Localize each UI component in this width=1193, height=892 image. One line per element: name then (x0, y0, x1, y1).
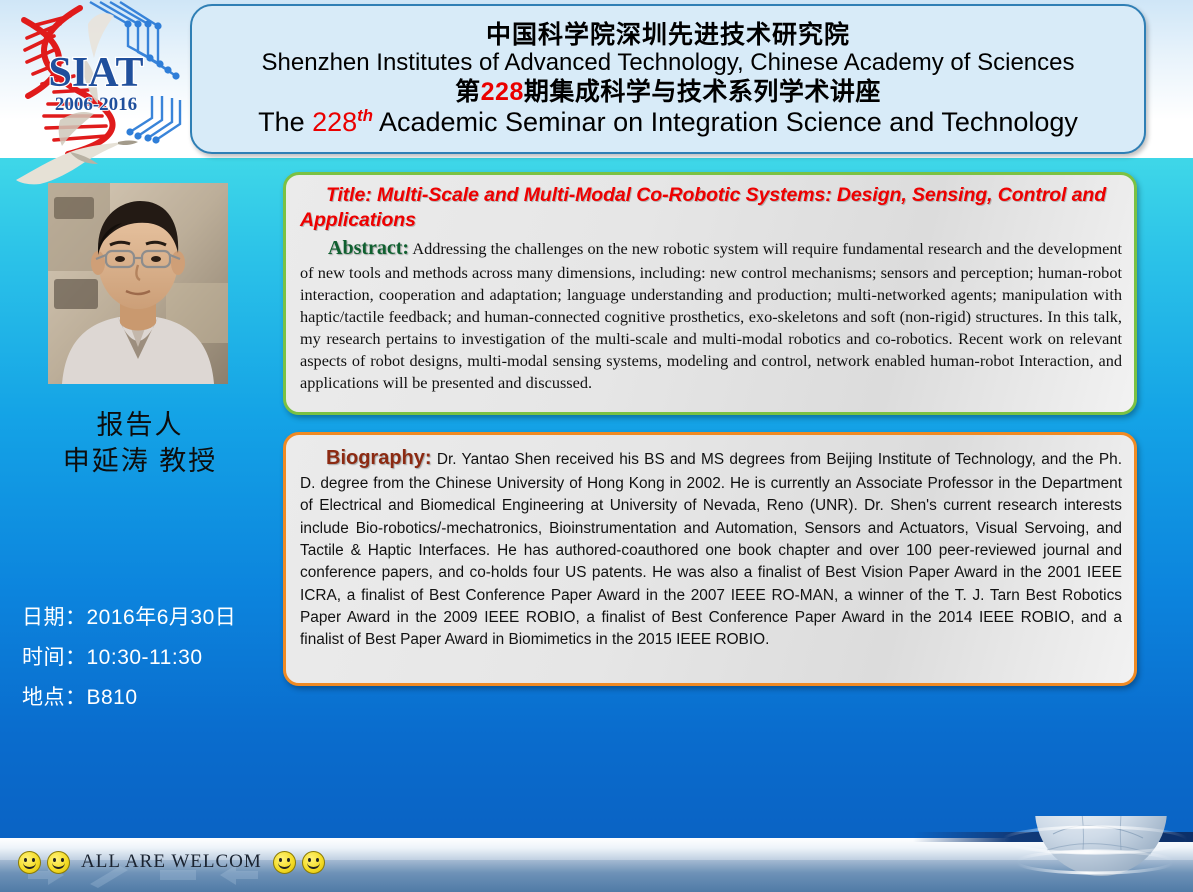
biography-body: Dr. Yantao Shen received his BS and MS d… (300, 451, 1122, 648)
series-cn-prefix: 第 (455, 78, 481, 106)
event-venue: 地点：B810 (22, 678, 280, 718)
series-en-prefix: The (258, 107, 312, 137)
abstract-body: Addressing the challenges on the new rob… (300, 239, 1122, 392)
speaker-info: 报告人 申延涛 教授 (0, 408, 280, 479)
header-series-cn: 第228期集成科学与技术系列学术讲座 (455, 78, 881, 106)
header-org-cn: 中国科学院深圳先进技术研究院 (486, 21, 850, 49)
svg-text:2006-2016: 2006-2016 (55, 94, 137, 115)
series-number-en: 228 (312, 107, 357, 137)
seminar-poster: SIAT 2006-2016 中国科学院深圳先进技术研究院 Shenzhen I… (0, 0, 1193, 892)
smiley-icon (47, 851, 70, 874)
smiley-icon (18, 851, 41, 874)
abstract-text: Abstract: Addressing the challenges on t… (300, 235, 1122, 395)
series-cn-suffix: 期集成科学与技术系列学术讲座 (524, 78, 881, 106)
biography-label: Biography: (326, 447, 432, 469)
talk-title: Title: Multi-Scale and Multi-Modal Co-Ro… (300, 183, 1122, 233)
smiley-icon (273, 851, 296, 874)
series-ordinal-suffix: th (357, 106, 373, 125)
abstract-label: Abstract: (328, 237, 409, 259)
series-number-cn: 228 (481, 78, 524, 106)
biography-text: Biography: Dr. Yantao Shen received his … (300, 444, 1122, 652)
event-details: 日期：2016年6月30日 时间：10:30-11:30 地点：B810 (22, 598, 280, 718)
event-time: 时间：10:30-11:30 (22, 638, 280, 678)
welcome-text: ALL ARE WELCOM (81, 851, 262, 873)
biography-card: Biography: Dr. Yantao Shen received his … (283, 432, 1137, 686)
header-org-en: Shenzhen Institutes of Advanced Technolo… (262, 50, 1075, 77)
speaker-role: 报告人 (0, 408, 280, 444)
header-series-en: The 228th Academic Seminar on Integratio… (258, 107, 1078, 137)
header-title-box: 中国科学院深圳先进技术研究院 Shenzhen Institutes of Ad… (190, 4, 1146, 154)
series-en-suffix: Academic Seminar on Integration Science … (373, 107, 1078, 137)
speaker-photo (48, 183, 228, 384)
svg-text:SIAT: SIAT (49, 50, 144, 96)
abstract-card: Title: Multi-Scale and Multi-Modal Co-Ro… (283, 172, 1137, 415)
globe-graphic (983, 816, 1193, 892)
speaker-name: 申延涛 教授 (0, 444, 280, 480)
smiley-icon (302, 851, 325, 874)
welcome-footer: ALL ARE WELCOM (18, 848, 325, 876)
flying-gull-icon (10, 136, 140, 186)
event-date: 日期：2016年6月30日 (22, 598, 280, 638)
